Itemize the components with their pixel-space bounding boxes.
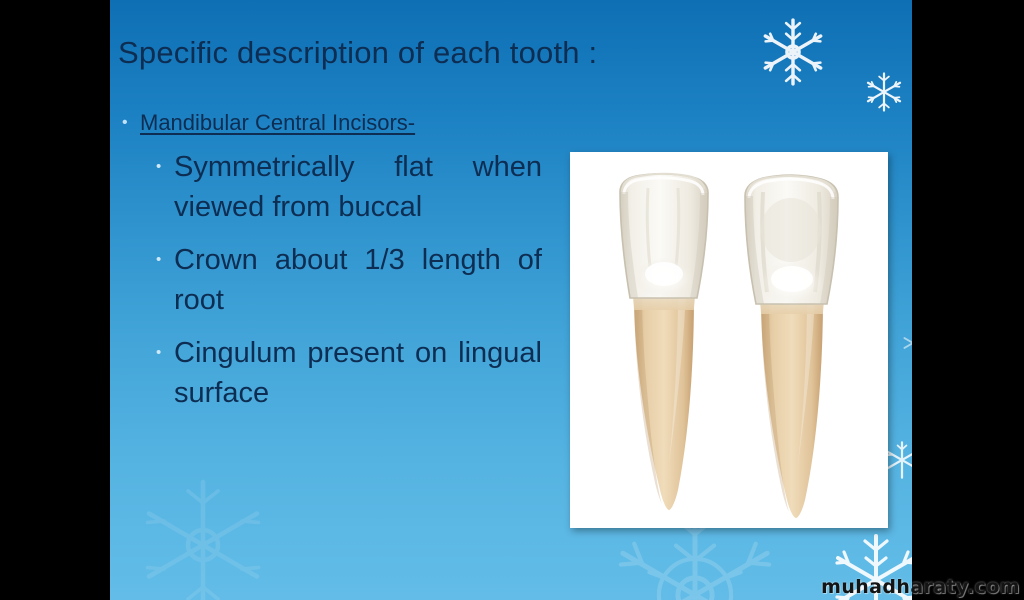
- slide-title: Specific description of each tooth :: [118, 36, 758, 70]
- snowflake-icon: [862, 70, 906, 114]
- list-item: • Cingulum present on lingual surface: [154, 333, 562, 413]
- slide-body: • Mandibular Central Incisors- • Symmetr…: [110, 108, 562, 426]
- snowflake-icon: [755, 14, 831, 90]
- site-watermark: muhadharaty.com: [821, 576, 1020, 598]
- letterbox-right: [912, 0, 1024, 600]
- bullet-level2-label: Symmetrically flat when viewed from bucc…: [174, 147, 542, 227]
- slide-viewer: Specific description of each tooth : • M…: [0, 0, 1024, 600]
- bullet-marker-icon: •: [154, 147, 174, 187]
- bullet-marker-icon: •: [154, 333, 174, 373]
- list-item: • Symmetrically flat when viewed from bu…: [154, 147, 562, 227]
- letterbox-left: [0, 0, 110, 600]
- bullet-level1-label: Mandibular Central Incisors-: [140, 108, 415, 138]
- presentation-slide: Specific description of each tooth : • M…: [110, 0, 912, 600]
- bullet-marker-icon: •: [118, 108, 140, 138]
- bullet-level2-label: Crown about 1/3 length of root: [174, 240, 542, 320]
- snowflake-icon: [128, 470, 278, 600]
- list-item: • Crown about 1/3 length of root: [154, 240, 562, 320]
- snowflake-icon: [900, 330, 912, 356]
- tooth-illustration: [570, 152, 888, 528]
- bullet-level2-label: Cingulum present on lingual surface: [174, 333, 542, 413]
- bullet-marker-icon: •: [154, 240, 174, 280]
- bullet-level2-list: • Symmetrically flat when viewed from bu…: [110, 147, 562, 413]
- bullet-level1: • Mandibular Central Incisors-: [110, 108, 562, 138]
